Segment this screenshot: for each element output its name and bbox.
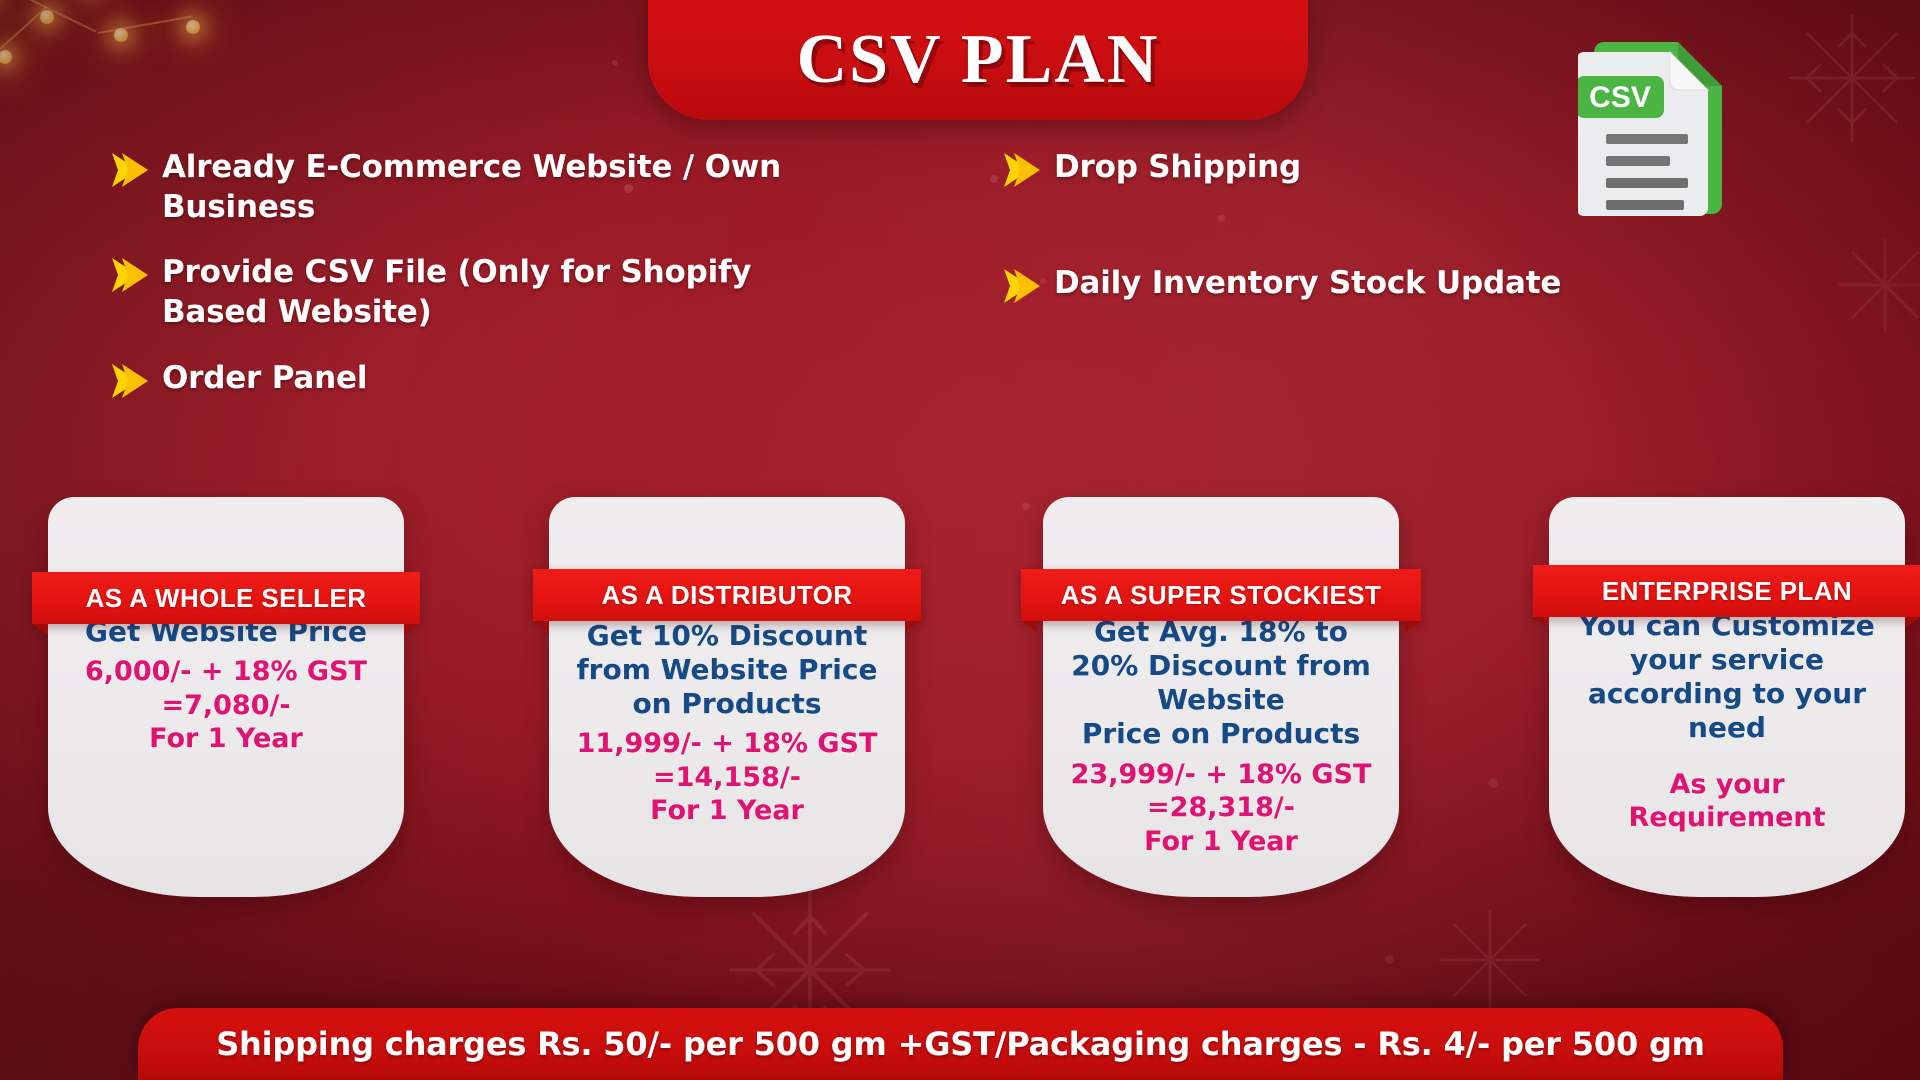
light-bulb-icon [0, 50, 12, 64]
light-bulb-icon [114, 28, 128, 42]
poster-stage: CSV PLAN CSV [0, 0, 1920, 1080]
plan-ribbon: ENTERPRISE PLAN [1533, 565, 1920, 617]
footer-note: Shipping charges Rs. 50/- per 500 gm +GS… [216, 1025, 1705, 1063]
title-banner: CSV PLAN [648, 0, 1308, 120]
feature-list: Already E-Commerce Website / Own Busines… [0, 148, 1920, 438]
plan-card-super-stockiest[interactable]: AS A SUPER STOCKIEST Get Avg. 18% to 20%… [1043, 497, 1399, 897]
plan-ribbon: AS A WHOLE SELLER [32, 572, 420, 624]
plan-price: 11,999/- + 18% GST =14,158/- For 1 Year [549, 727, 905, 827]
plan-card-body: ENTERPRISE PLAN You can Customize your s… [1549, 497, 1905, 897]
feature-label: Daily Inventory Stock Update [1054, 264, 1561, 304]
feature-label: Order Panel [162, 359, 367, 399]
plan-ribbon-label: ENTERPRISE PLAN [1602, 576, 1852, 607]
feature-item: Order Panel [108, 359, 828, 403]
plan-ribbon-label: AS A DISTRIBUTOR [601, 580, 852, 611]
light-bulb-icon [40, 10, 54, 24]
chevron-bullet-icon [1000, 266, 1044, 308]
chevron-bullet-icon [1000, 150, 1044, 192]
plan-card-enterprise[interactable]: ENTERPRISE PLAN You can Customize your s… [1549, 497, 1905, 897]
plan-card-body: AS A DISTRIBUTOR Get 10% Discount from W… [549, 497, 905, 897]
feature-item: Drop Shipping [1000, 148, 1760, 192]
plan-ribbon-label: AS A SUPER STOCKIEST [1061, 580, 1382, 611]
feature-label: Already E-Commerce Website / Own Busines… [162, 148, 828, 227]
snowflake-icon [1782, 8, 1920, 148]
plan-card-body: AS A WHOLE SELLER Get Website Price 6,00… [48, 497, 404, 897]
feature-column-right: Drop Shipping Daily Inventory Stock Upda… [1000, 148, 1760, 334]
plan-ribbon: AS A SUPER STOCKIEST [1021, 569, 1421, 621]
chevron-bullet-icon [108, 150, 152, 192]
plan-heading: Get 10% Discount from Website Price on P… [549, 619, 905, 721]
plan-card-row: AS A WHOLE SELLER Get Website Price 6,00… [0, 497, 1920, 1007]
plan-heading: You can Customize your service according… [1549, 609, 1905, 746]
feature-item: Already E-Commerce Website / Own Busines… [108, 148, 828, 227]
footer-banner: Shipping charges Rs. 50/- per 500 gm +GS… [138, 1008, 1783, 1080]
feature-item: Daily Inventory Stock Update [1000, 264, 1760, 308]
light-bulb-icon [186, 20, 200, 34]
plan-card-whole-seller[interactable]: AS A WHOLE SELLER Get Website Price 6,00… [48, 497, 404, 897]
feature-column-left: Already E-Commerce Website / Own Busines… [108, 148, 828, 429]
plan-price: As your Requirement [1549, 768, 1905, 835]
plan-price: 6,000/- + 18% GST =7,080/- For 1 Year [48, 655, 404, 755]
plan-price: 23,999/- + 18% GST =28,318/- For 1 Year [1043, 758, 1399, 858]
plan-ribbon: AS A DISTRIBUTOR [533, 569, 921, 621]
plan-card-distributor[interactable]: AS A DISTRIBUTOR Get 10% Discount from W… [549, 497, 905, 897]
page-title: CSV PLAN [797, 25, 1160, 95]
plan-ribbon-label: AS A WHOLE SELLER [86, 583, 367, 614]
plan-heading: Get Avg. 18% to 20% Discount from Websit… [1043, 615, 1399, 752]
feature-label: Provide CSV File (Only for Shopify Based… [162, 253, 828, 332]
bokeh-dot [612, 60, 618, 66]
feature-item: Provide CSV File (Only for Shopify Based… [108, 253, 828, 332]
chevron-bullet-icon [108, 255, 152, 297]
feature-label: Drop Shipping [1054, 148, 1301, 188]
chevron-bullet-icon [108, 361, 152, 403]
svg-text:CSV: CSV [1589, 81, 1651, 114]
plan-card-body: AS A SUPER STOCKIEST Get Avg. 18% to 20%… [1043, 497, 1399, 897]
